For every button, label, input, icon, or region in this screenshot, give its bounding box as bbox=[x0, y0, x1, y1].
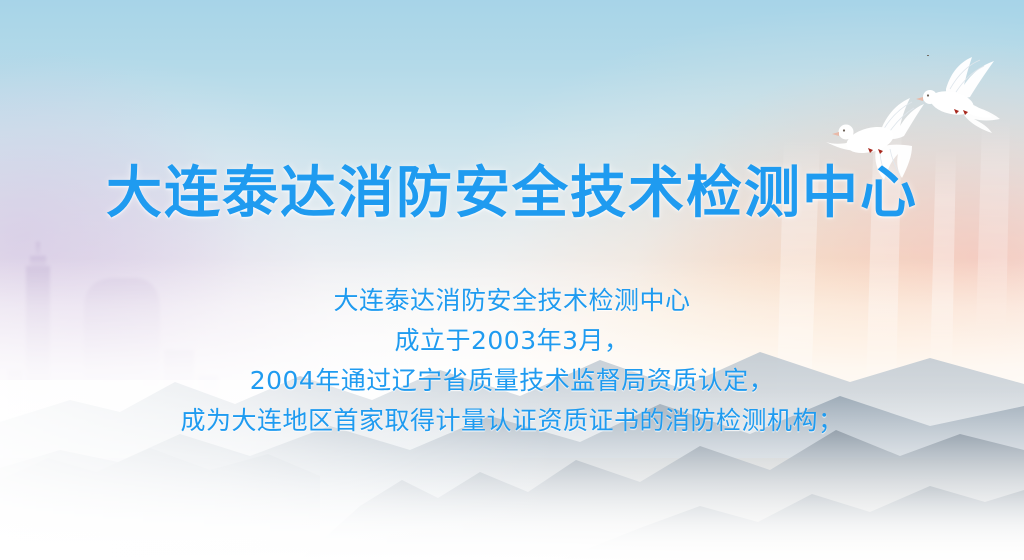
description-line-2: 成立于2003年3月， bbox=[0, 321, 1024, 361]
description-block: 大连泰达消防安全技术检测中心 成立于2003年3月， 2004年通过辽宁省质量技… bbox=[0, 281, 1024, 441]
page-title: 大连泰达消防安全技术检测中心 bbox=[0, 163, 1024, 226]
dove-icon bbox=[898, 55, 1014, 143]
description-line-3: 2004年通过辽宁省质量技术监督局资质认定， bbox=[0, 361, 1024, 401]
description-line-1: 大连泰达消防安全技术检测中心 bbox=[0, 281, 1024, 321]
description-line-4: 成为大连地区首家取得计量认证资质证书的消防检测机构； bbox=[0, 401, 1024, 441]
slide-canvas: 大连泰达消防安全技术检测中心 大连泰达消防安全技术检测中心 成立于2003年3月… bbox=[0, 0, 1024, 560]
